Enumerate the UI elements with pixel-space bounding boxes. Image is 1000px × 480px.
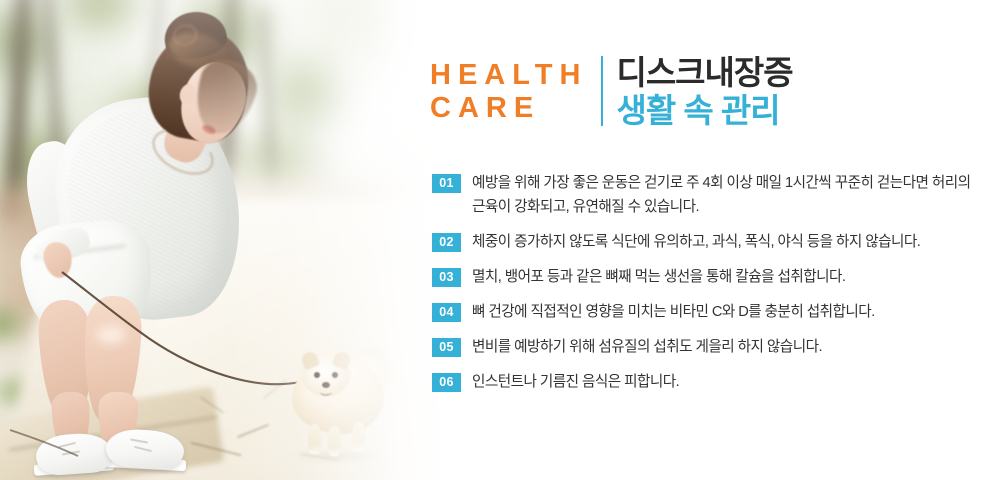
heading-main: 디스크내장증 (616, 54, 792, 91)
tip-number-badge: 04 (432, 303, 461, 322)
tip-text: 변비를 예방하기 위해 섬유질의 섭취도 게을리 하지 않습니다. (472, 335, 978, 359)
heading-sub: 생활 속 관리 (616, 91, 792, 130)
tip-number-badge: 01 (432, 174, 461, 193)
list-item: 04 뼈 건강에 직접적인 영향을 미치는 비타민 C와 D를 충분히 섭취합니… (432, 300, 978, 324)
photo-haze-overlay (0, 0, 470, 480)
tip-number-badge: 03 (432, 268, 461, 287)
tip-text: 예방을 위해 가장 좋은 운동은 걷기로 주 4회 이상 매일 1시간씩 꾸준히… (472, 171, 978, 219)
list-item: 02 체중이 증가하지 않도록 식단에 유의하고, 과식, 폭식, 야식 등을 … (432, 230, 978, 254)
list-item: 03 멸치, 뱅어포 등과 같은 뼈째 먹는 생선을 통해 칼슘을 섭취합니다. (432, 265, 978, 289)
photo-scene (0, 0, 470, 480)
list-item: 05 변비를 예방하기 위해 섬유질의 섭취도 게을리 하지 않습니다. (432, 335, 978, 359)
title-block: HEALTH CARE 디스크내장증 생활 속 관리 (430, 54, 793, 130)
tip-text: 체중이 증가하지 않도록 식단에 유의하고, 과식, 폭식, 야식 등을 하지 … (472, 230, 978, 254)
tip-text: 인스턴트나 기름진 음식은 피합니다. (472, 370, 978, 394)
tip-text: 멸치, 뱅어포 등과 같은 뼈째 먹는 생선을 통해 칼슘을 섭취합니다. (472, 265, 978, 289)
brand-line-health: HEALTH (430, 59, 587, 92)
brand-line-care: CARE (430, 92, 587, 125)
list-item: 06 인스턴트나 기름진 음식은 피합니다. (432, 370, 978, 394)
tip-number-badge: 05 (432, 338, 461, 357)
hero-photo (0, 0, 470, 480)
tips-list: 01 예방을 위해 가장 좋은 운동은 걷기로 주 4회 이상 매일 1시간씩 … (432, 171, 978, 405)
health-care-banner: HEALTH CARE 디스크내장증 생활 속 관리 01 예방을 위해 가장 … (0, 0, 1000, 480)
content-panel: HEALTH CARE 디스크내장증 생활 속 관리 01 예방을 위해 가장 … (430, 0, 1000, 480)
tip-text: 뼈 건강에 직접적인 영향을 미치는 비타민 C와 D를 충분히 섭취합니다. (472, 300, 978, 324)
heading-group: 디스크내장증 생활 속 관리 (603, 54, 792, 130)
tip-number-badge: 02 (432, 233, 461, 252)
brand-wordmark: HEALTH CARE (430, 54, 601, 130)
list-item: 01 예방을 위해 가장 좋은 운동은 걷기로 주 4회 이상 매일 1시간씩 … (432, 171, 978, 219)
tip-number-badge: 06 (432, 373, 461, 392)
